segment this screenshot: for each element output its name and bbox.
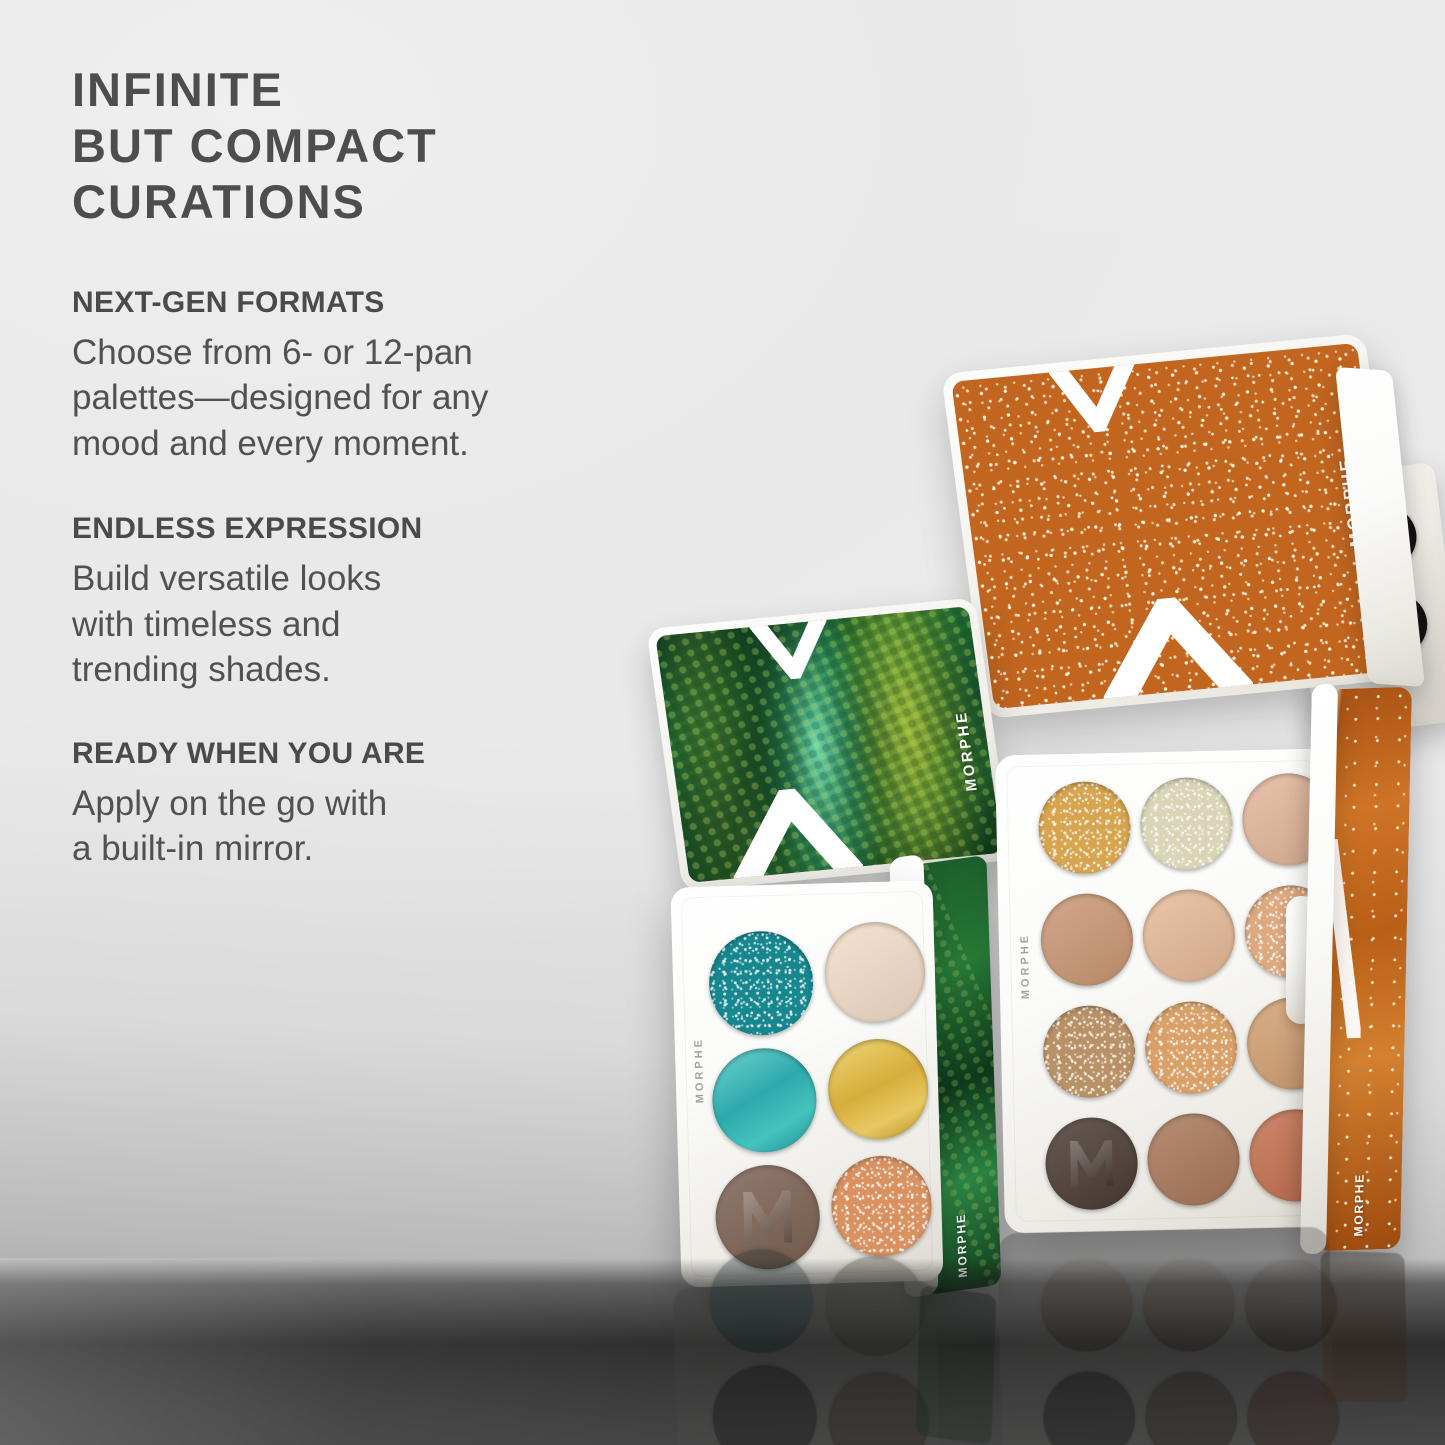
feature-body: Apply on the go with a built-in mirror. (72, 781, 682, 872)
headline-line-3: CURATIONS (72, 174, 682, 230)
feature-body-line: Choose from 6- or 12-pan (72, 330, 682, 376)
side-wordmark: MORPHE (1351, 1172, 1366, 1236)
base-emboss-wordmark: MORPHE (693, 1037, 707, 1104)
feature-body-line: a built-in mirror. (72, 826, 682, 872)
feature-ready-when-you-are: READY WHEN YOU ARE Apply on the go with … (72, 737, 682, 872)
feature-body-line: mood and every moment. (72, 421, 682, 467)
base-emboss-wordmark: MORPHE (1019, 933, 1032, 1000)
feature-title: ENDLESS EXPRESSION (72, 512, 682, 546)
feature-body: Choose from 6- or 12-pan palettes—design… (72, 330, 682, 467)
six-pan-base: MORPHE (670, 880, 943, 1287)
morphe-m-emboss-icon (1070, 1140, 1113, 1187)
copper-sand-artwork: MORPHE (951, 343, 1399, 709)
copy-column: INFINITE BUT COMPACT CURATIONS NEXT-GEN … (72, 62, 682, 872)
feature-title: NEXT-GEN FORMATS (72, 286, 682, 320)
feature-endless-expression: ENDLESS EXPRESSION Build versatile looks… (72, 512, 682, 693)
headline-line-2: BUT COMPACT (72, 118, 682, 174)
sparkle-overlay (951, 343, 1399, 709)
feature-body-line: trending shades. (72, 647, 682, 693)
green-snakeskin-artwork: MORPHE (655, 606, 1003, 883)
feature-next-gen-formats: NEXT-GEN FORMATS Choose from 6- or 12-pa… (72, 286, 682, 467)
feature-body-line: with timeless and (72, 602, 682, 648)
feature-title: READY WHEN YOU ARE (72, 737, 682, 771)
morphe-m-emboss-icon (743, 1190, 792, 1243)
product-marketing-image: INFINITE BUT COMPACT CURATIONS NEXT-GEN … (0, 0, 1445, 1445)
page-title: INFINITE BUT COMPACT CURATIONS (72, 62, 682, 230)
floor-sheen (0, 1258, 1445, 1445)
feature-body: Build versatile looks with timeless and … (72, 556, 682, 693)
six-pan-lid: MORPHE (646, 597, 1012, 891)
feature-body-line: Apply on the go with (72, 781, 682, 827)
feature-body-line: palettes—designed for any (72, 375, 682, 421)
headline-line-1: INFINITE (72, 62, 682, 118)
feature-body-line: Build versatile looks (72, 556, 682, 602)
